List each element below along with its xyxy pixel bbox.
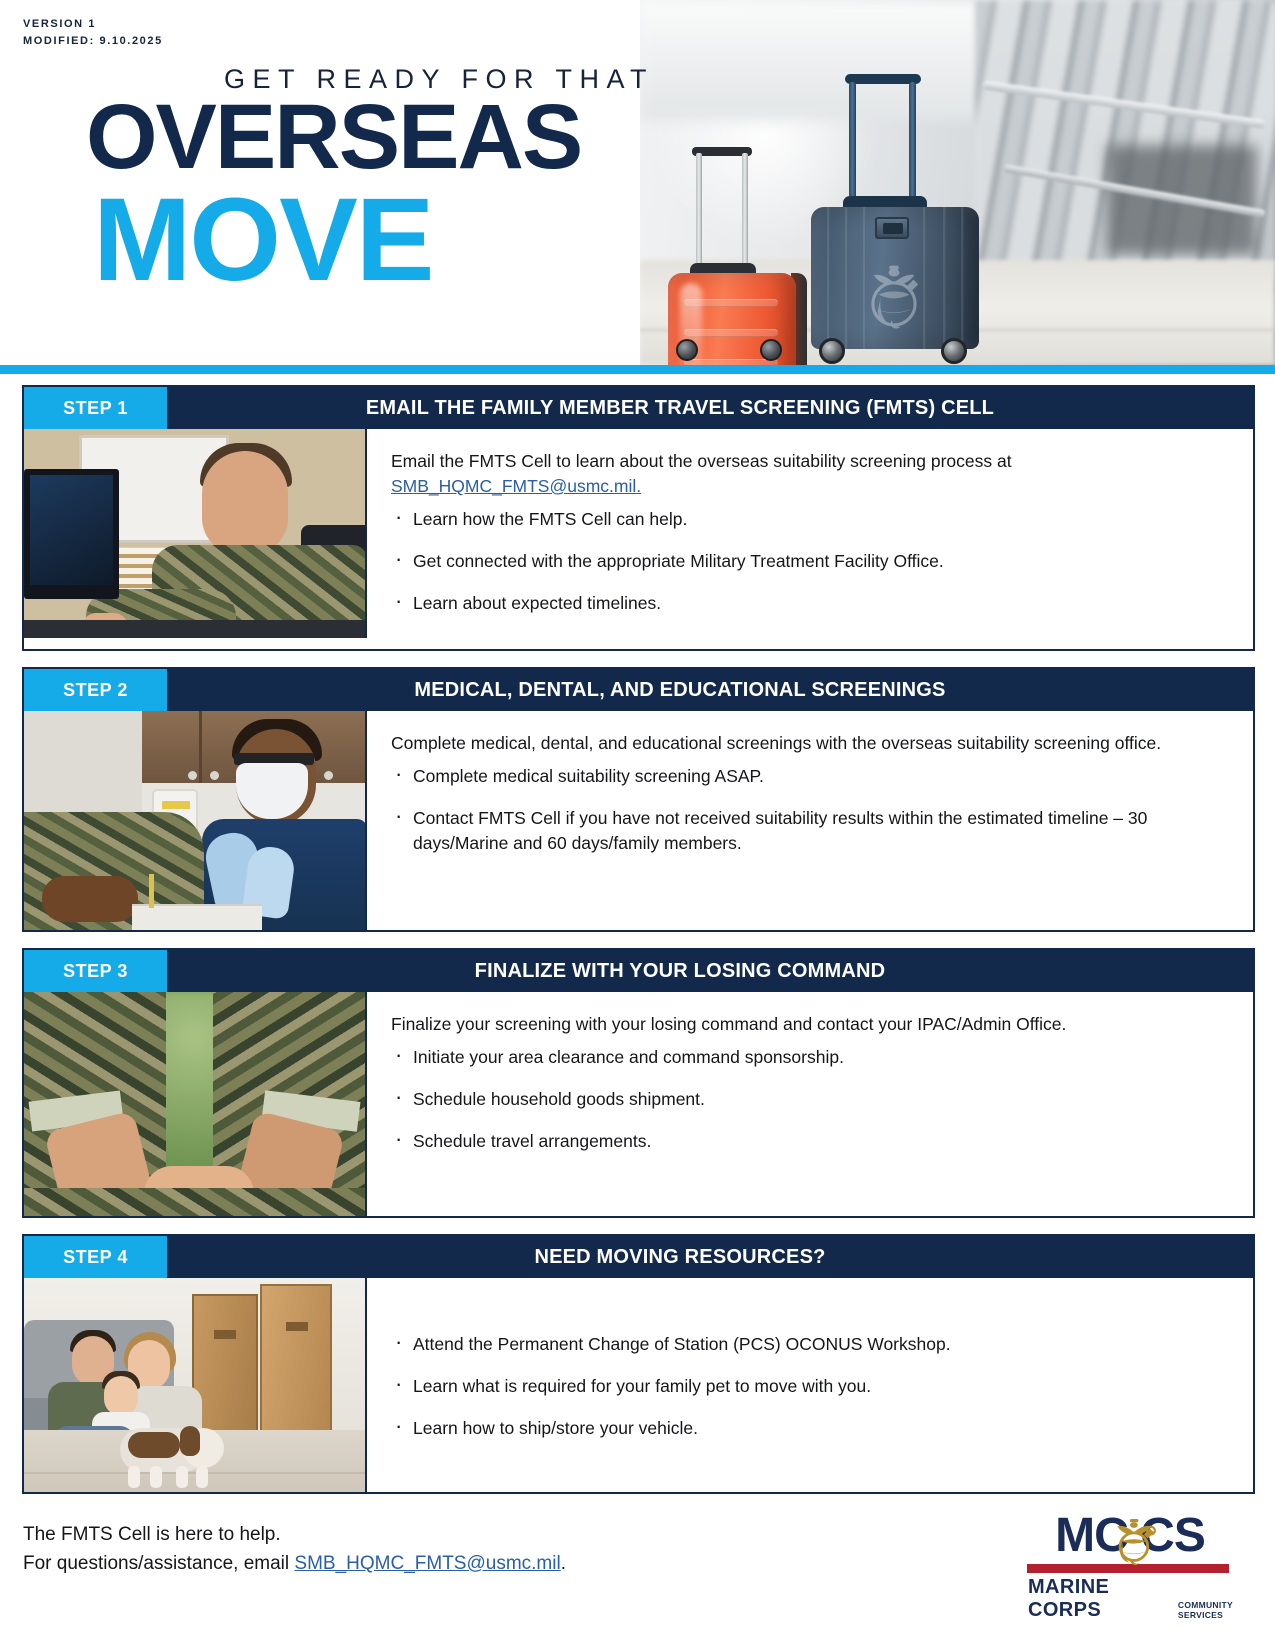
step-2-title: MEDICAL, DENTAL, AND EDUCATIONAL SCREENI… (167, 679, 1253, 702)
list-item: Initiate your area clearance and command… (391, 1045, 1229, 1070)
step-1-title: EMAIL THE FAMILY MEMBER TRAVEL SCREENING… (167, 397, 1253, 420)
page-footer: The FMTS Cell is here to help. For quest… (0, 1498, 1275, 1608)
page-header: VERSION 1 MODIFIED: 9.10.2025 GET READY … (0, 0, 1275, 365)
step-4-bullets: Attend the Permanent Change of Station (… (391, 1332, 1229, 1441)
step-2-lead: Complete medical, dental, and educationa… (391, 731, 1229, 756)
step-3-photo (24, 992, 367, 1216)
step-card-4: STEP 4 NEED MOVING RESOURCES? (22, 1234, 1255, 1494)
eagle-globe-anchor-icon (855, 245, 933, 333)
list-item: Schedule travel arrangements. (391, 1129, 1229, 1154)
steps-container: STEP 1 EMAIL THE FAMILY MEMBER TRAVEL SC… (0, 385, 1275, 1510)
mccs-tagline-sub-bottom: SERVICES (1178, 1611, 1233, 1621)
step-2-body: Complete medical, dental, and educationa… (24, 711, 1253, 930)
step-1-body: Email the FMTS Cell to learn about the o… (24, 429, 1253, 649)
step-3-badge: STEP 3 (24, 950, 167, 992)
list-item: Contact FMTS Cell if you have not receiv… (391, 806, 1229, 856)
step-3-header: STEP 3 FINALIZE WITH YOUR LOSING COMMAND (24, 950, 1253, 992)
step-2-badge: STEP 2 (24, 669, 167, 711)
footer-email-link[interactable]: SMB_HQMC_FMTS@usmc.mil (294, 1553, 560, 1574)
list-item: Learn about expected timelines. (391, 591, 1229, 616)
list-item: Learn what is required for your family p… (391, 1374, 1229, 1399)
step-2-photo (24, 711, 367, 930)
mccs-tagline: MARINE CORPS COMMUNITY SERVICES (1023, 1576, 1233, 1622)
step-3-bullets: Initiate your area clearance and command… (391, 1045, 1229, 1154)
step-card-1: STEP 1 EMAIL THE FAMILY MEMBER TRAVEL SC… (22, 385, 1255, 651)
step-1-header: STEP 1 EMAIL THE FAMILY MEMBER TRAVEL SC… (24, 387, 1253, 429)
footer-line-2-after: . (561, 1553, 566, 1574)
step-4-body: Attend the Permanent Change of Station (… (24, 1278, 1253, 1492)
step-1-bullets: Learn how the FMTS Cell can help. Get co… (391, 507, 1229, 616)
step-1-lead-before: Email the FMTS Cell to learn about the o… (391, 451, 1012, 471)
step-3-text: Finalize your screening with your losing… (367, 992, 1253, 1216)
list-item: Learn how to ship/store your vehicle. (391, 1416, 1229, 1441)
step-4-photo (24, 1278, 367, 1492)
step-1-text: Email the FMTS Cell to learn about the o… (367, 429, 1253, 649)
mccs-logo: MC CS MARINE CORPS (1023, 1510, 1233, 1598)
step-3-body: Finalize your screening with your losing… (24, 992, 1253, 1216)
list-item: Complete medical suitability screening A… (391, 764, 1229, 789)
step-4-text: Attend the Permanent Change of Station (… (367, 1278, 1253, 1492)
step-1-lead: Email the FMTS Cell to learn about the o… (391, 449, 1229, 499)
list-item: Attend the Permanent Change of Station (… (391, 1332, 1229, 1357)
version-info: VERSION 1 MODIFIED: 9.10.2025 (23, 16, 163, 50)
step-card-2: STEP 2 MEDICAL, DENTAL, AND EDUCATIONAL … (22, 667, 1255, 932)
list-item: Learn how the FMTS Cell can help. (391, 507, 1229, 532)
hero-suitcase-photo (640, 0, 1275, 365)
list-item: Get connected with the appropriate Milit… (391, 549, 1229, 574)
step-1-email-link[interactable]: SMB_HQMC_FMTS@usmc.mil. (391, 476, 641, 496)
step-4-badge: STEP 4 (24, 1236, 167, 1278)
step-1-badge: STEP 1 (24, 387, 167, 429)
footer-line-2: For questions/assistance, email SMB_HQMC… (23, 1549, 566, 1578)
footer-line-1: The FMTS Cell is here to help. (23, 1520, 566, 1549)
step-2-text: Complete medical, dental, and educationa… (367, 711, 1253, 930)
mccs-tagline-sub: COMMUNITY SERVICES (1178, 1601, 1233, 1622)
step-3-title: FINALIZE WITH YOUR LOSING COMMAND (167, 960, 1253, 983)
header-divider-rule (0, 365, 1275, 374)
step-3-lead: Finalize your screening with your losing… (391, 1012, 1229, 1037)
header-title-line2: MOVE (93, 184, 433, 296)
version-label: VERSION 1 (23, 16, 163, 33)
footer-contact-text: The FMTS Cell is here to help. For quest… (23, 1520, 566, 1578)
mccs-wordmark: MC CS (1023, 1510, 1233, 1562)
step-4-header: STEP 4 NEED MOVING RESOURCES? (24, 1236, 1253, 1278)
footer-line-2-before: For questions/assistance, email (23, 1553, 294, 1574)
orange-suitcase-icon (660, 145, 805, 355)
step-4-title: NEED MOVING RESOURCES? (167, 1246, 1253, 1269)
step-1-photo (24, 429, 367, 638)
eagle-globe-anchor-logo-icon (1107, 1508, 1163, 1566)
step-2-header: STEP 2 MEDICAL, DENTAL, AND EDUCATIONAL … (24, 669, 1253, 711)
modified-label: MODIFIED: 9.10.2025 (23, 33, 163, 50)
step-card-3: STEP 3 FINALIZE WITH YOUR LOSING COMMAND (22, 948, 1255, 1218)
navy-suitcase-icon (805, 74, 985, 359)
step-2-bullets: Complete medical suitability screening A… (391, 764, 1229, 856)
list-item: Schedule household goods shipment. (391, 1087, 1229, 1112)
header-title-line1: OVERSEAS (86, 94, 581, 180)
mccs-tagline-main: MARINE CORPS (1028, 1576, 1171, 1622)
